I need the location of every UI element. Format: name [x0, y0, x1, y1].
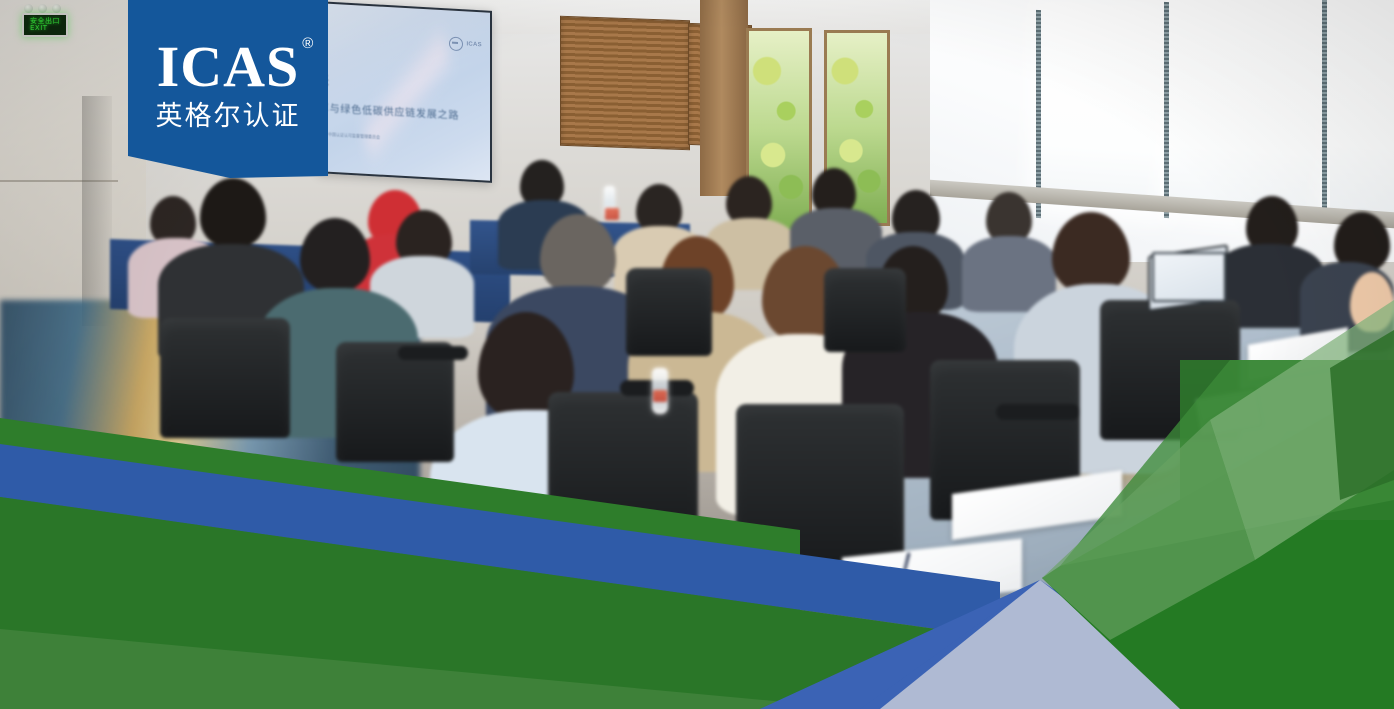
chair-armrest: [996, 404, 1080, 420]
chair: [548, 392, 698, 552]
attendee-head: [1052, 212, 1130, 294]
attendee-head: [300, 218, 370, 292]
registered-trademark-icon: ®: [302, 36, 314, 51]
chair: [160, 318, 290, 438]
water-bottle: [604, 186, 615, 218]
chair: [626, 268, 712, 356]
water-bottle: [652, 368, 668, 414]
chair: [824, 268, 906, 352]
icas-wordmark: ICAS ®: [157, 38, 300, 96]
icas-wordmark-text: ICAS: [157, 34, 300, 99]
attendee-head: [200, 178, 266, 248]
attendee-head: [1350, 272, 1394, 332]
notepad: [1248, 327, 1348, 381]
chair: [336, 342, 454, 462]
chair-armrest: [398, 346, 468, 360]
banner-root: 安全出口 EXIT ICAS 来 核算与绿色低碳供应链发展之路 中国认证认可监督…: [0, 0, 1394, 709]
laptop: [1152, 252, 1226, 302]
icas-chinese-name: 英格尔认证: [156, 102, 301, 132]
attendee-head: [540, 214, 616, 294]
